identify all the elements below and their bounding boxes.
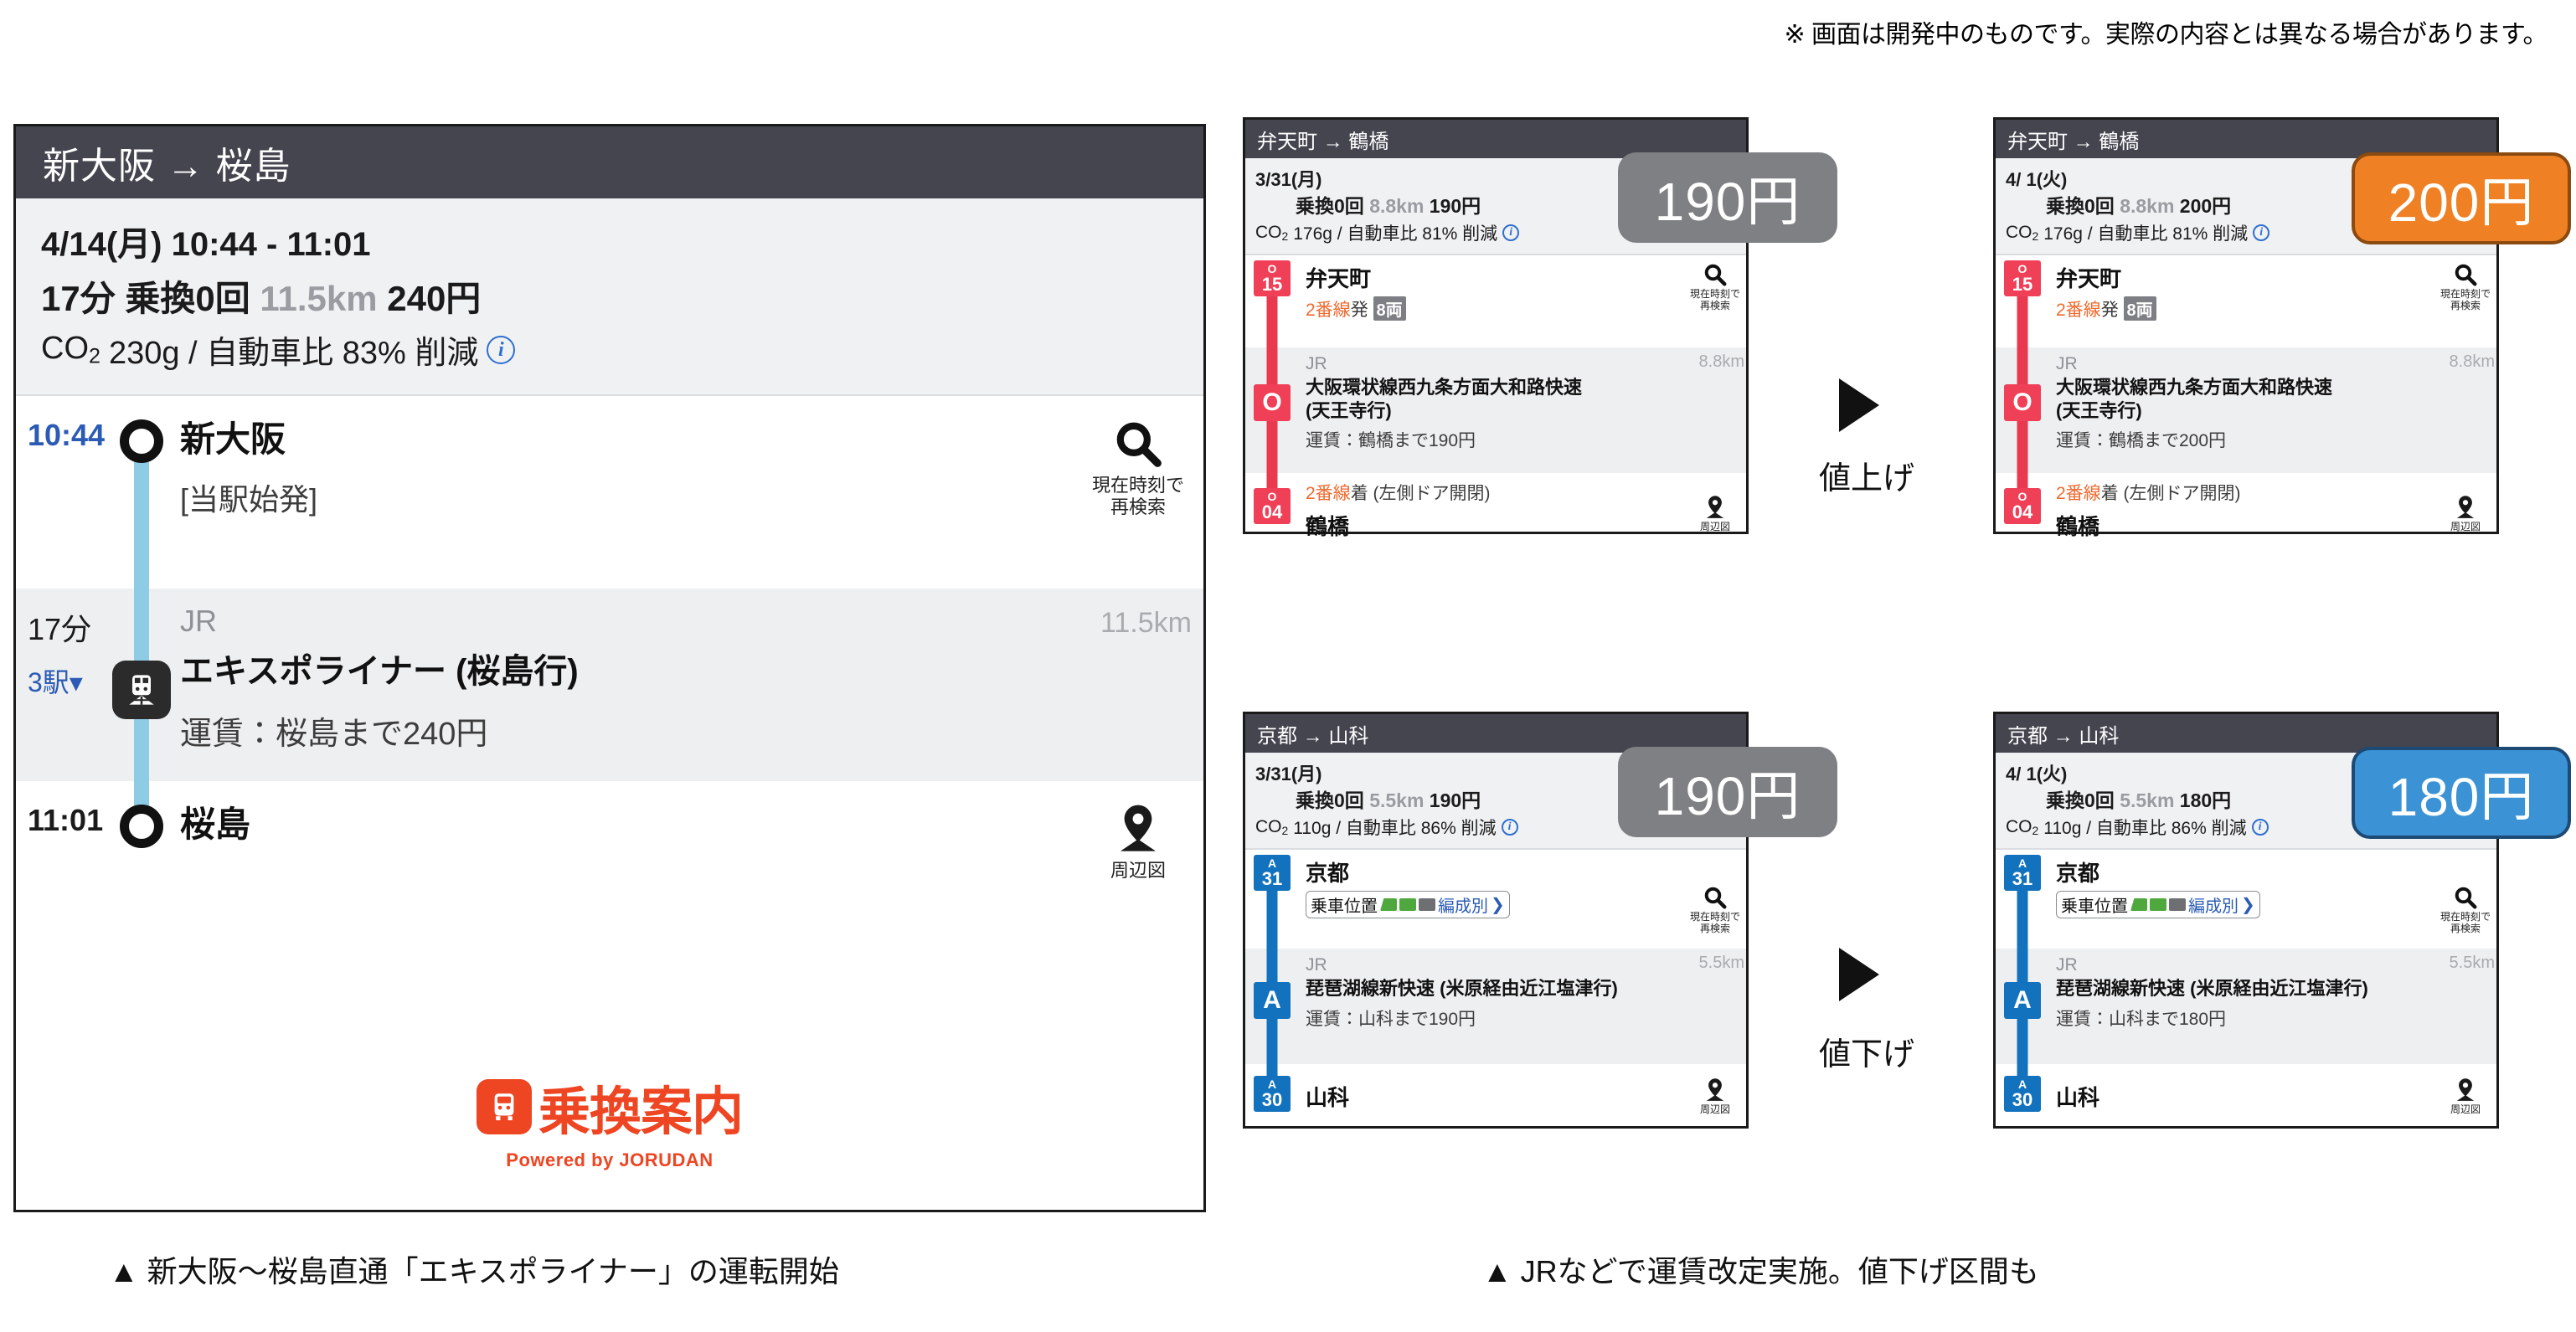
info-icon[interactable]: i xyxy=(1502,819,1518,836)
info-icon[interactable]: i xyxy=(2252,819,2269,836)
card-distance: 8.8km xyxy=(2120,195,2174,217)
price-bubble-after-2: 180円 xyxy=(2352,747,2571,839)
panel-header: 新大阪 → 桜島 xyxy=(16,126,1203,198)
summary-fare: 240円 xyxy=(387,279,481,318)
card-transfers: 乗換0回 xyxy=(2046,195,2115,217)
arrival-platform: 2番線着 (左側ドア開閉) xyxy=(2056,480,2431,505)
segment-fare: 運賃：山科まで190円 xyxy=(1306,1005,1681,1031)
car-count-chip: 8両 xyxy=(2124,296,2156,321)
segment-line-name: エキスポライナー (桜島行) xyxy=(180,644,1078,692)
summary-distance: 11.5km xyxy=(260,279,377,318)
route-axis xyxy=(108,396,175,589)
station-node-icon xyxy=(120,805,163,848)
segment-operator: JR xyxy=(180,604,1078,639)
segment-fare: 運賃：山科まで180円 xyxy=(2056,1005,2431,1031)
departure-station: 新大阪 xyxy=(180,411,1078,462)
search-icon xyxy=(2453,885,2478,910)
segment-line-name: 大阪環状線西九条方面大和路快速 (天王寺行) xyxy=(2056,376,2431,422)
train-car-icon-front xyxy=(2130,898,2147,911)
tool-caption-line1: 現在時刻で xyxy=(1092,475,1184,496)
segment-line-name: 琵琶湖線新快速 (米原経由近江塩津行) xyxy=(1306,977,1681,1000)
card-transfers: 乗換0回 xyxy=(1296,195,1364,217)
line-symbol-departure-icon: O 15 xyxy=(1254,260,1291,296)
card-row-departure: A 31 京都 乗車位置 編成別 ❯ xyxy=(1996,850,2496,949)
departure-note: [当駅始発] xyxy=(180,476,1078,519)
platform-number: 2番線 xyxy=(1306,484,1351,503)
tool-caption-line2: 再検索 xyxy=(1110,496,1166,517)
map-pin-icon xyxy=(1704,1077,1726,1103)
segment-distance: 5.5km xyxy=(2434,949,2496,1064)
co2-label: CO xyxy=(41,331,89,366)
card-distance: 5.5km xyxy=(1369,789,1424,811)
platform-number: 2番線 xyxy=(2056,484,2101,503)
card-row-departure: O 15 弁天町 2番線発 8両 現在時刻で 再検索 xyxy=(1245,255,1746,347)
co2-subscript: 2 xyxy=(1282,824,1289,837)
area-map-button[interactable]: 周辺図 xyxy=(2434,473,2496,565)
map-pin-icon xyxy=(1704,495,1726,520)
card-fare: 190円 xyxy=(1430,195,1481,217)
chevron-right-icon: ❯ xyxy=(1491,894,1505,915)
arrival-station: 鶴橋 xyxy=(1306,510,1681,541)
segment-duration: 17分 xyxy=(28,612,91,646)
tool-caption-line1: 周辺図 xyxy=(1110,860,1166,882)
area-map-button[interactable]: 周辺図 xyxy=(1684,1064,1746,1156)
co2-label: CO xyxy=(1255,223,1282,242)
car-count-chip: 8両 xyxy=(1373,296,1406,321)
formation-link: 編成別 xyxy=(1438,892,1488,917)
platform-number: 2番線 xyxy=(1306,301,1351,320)
card-row-segment: A JR 琵琶湖線新快速 (米原経由近江塩津行) 運賃：山科まで190円 5.5… xyxy=(1245,949,1746,1064)
segment-operator: JR xyxy=(2056,955,2431,975)
boarding-position-label: 乗車位置 xyxy=(1311,892,1378,917)
price-bubble-before-2: 190円 xyxy=(1618,747,1837,837)
line-symbol-segment-icon: A xyxy=(2004,982,2041,1019)
segment-operator: JR xyxy=(1306,354,1681,374)
segment-line-name: 大阪環状線西九条方面大和路快速 (天王寺行) xyxy=(1306,376,1681,422)
departure-station: 弁天町 xyxy=(1306,262,1681,293)
card-row-arrival: A 30 山科 周辺図 xyxy=(1996,1064,2496,1156)
segment-distance: 11.5km xyxy=(1100,607,1192,640)
map-pin-icon xyxy=(2455,1077,2476,1103)
card-title: 弁天町 → 鶴橋 xyxy=(2007,125,2139,154)
card-row-arrival: O 04 2番線着 (左側ドア開閉) 鶴橋 周辺図 xyxy=(1996,473,2496,565)
card-fare: 190円 xyxy=(1430,789,1481,811)
segment-operator: JR xyxy=(2056,354,2431,374)
info-icon[interactable]: i xyxy=(1502,224,1519,241)
research-now-button[interactable]: 現在時刻で 再検索 xyxy=(1684,255,1746,347)
arrival-station: 山科 xyxy=(1306,1081,1681,1112)
search-icon xyxy=(1703,262,1728,287)
arrival-station: 桜島 xyxy=(180,796,1078,847)
card-title: 京都 → 山科 xyxy=(1257,719,1368,748)
segment-distance: 8.8km xyxy=(2434,347,2496,473)
area-map-button[interactable]: 周辺図 xyxy=(2434,1064,2496,1156)
boarding-position-button[interactable]: 乗車位置 編成別 ❯ xyxy=(2056,891,2260,918)
card-row-departure: O 15 弁天町 2番線発 8両 現在時刻で 再検索 xyxy=(1996,255,2496,347)
departure-station: 京都 xyxy=(2056,856,2431,887)
card-row-arrival: A 30 山科 周辺図 xyxy=(1245,1064,1746,1156)
segment-operator: JR xyxy=(1306,955,1681,975)
arrival-station: 鶴橋 xyxy=(2056,510,2431,541)
triangle-right-icon xyxy=(1839,378,1879,432)
line-symbol-segment-icon: A xyxy=(1254,982,1291,1019)
train-car-icon-mid xyxy=(1399,898,1416,911)
card-row-departure: A 31 京都 乗車位置 編成別 ❯ xyxy=(1245,850,1746,949)
arrival-time: 11:01 xyxy=(16,781,108,949)
line-symbol-arrival-icon: O 04 xyxy=(1254,488,1291,524)
segment-line-name: 琵琶湖線新快速 (米原経由近江塩津行) xyxy=(2056,977,2431,1000)
arrow-label-decrease: 値下げ xyxy=(1819,1028,1914,1074)
price-bubble-before-1: 190円 xyxy=(1618,152,1837,243)
segment-distance: 8.8km xyxy=(1684,347,1746,473)
co2-subscript: 2 xyxy=(2032,824,2039,837)
summary-transfers: 乗換0回 xyxy=(125,279,250,318)
chevron-right-icon: ❯ xyxy=(2241,894,2255,915)
summary-co2: CO2 230g / 自動車比 83% 削減 i xyxy=(41,327,1178,373)
card-fare: 180円 xyxy=(2180,789,2231,811)
card-fare: 200円 xyxy=(2180,195,2231,217)
route-row-arrival: 11:01 桜島 周辺図 xyxy=(16,781,1203,949)
card-row-segment: A JR 琵琶湖線新快速 (米原経由近江塩津行) 運賃：山科まで180円 5.5… xyxy=(1996,949,2496,1064)
panel-title: 新大阪 → 桜島 xyxy=(43,136,291,189)
segment-distance: 5.5km xyxy=(1684,949,1746,1064)
departure-station: 弁天町 xyxy=(2056,262,2431,293)
line-symbol-arrival-icon: A 30 xyxy=(2004,1076,2041,1112)
line-symbol-arrival-icon: A 30 xyxy=(1254,1076,1291,1112)
boarding-position-button[interactable]: 乗車位置 編成別 ❯ xyxy=(1306,891,1510,918)
co2-subscript: 2 xyxy=(2032,229,2039,243)
card-row-segment: O JR 大阪環状線西九条方面大和路快速 (天王寺行) 運賃：鶴橋まで200円 … xyxy=(1996,347,2496,473)
co2-subscript: 2 xyxy=(1282,229,1289,243)
co2-subscript: 2 xyxy=(89,344,100,368)
disclaimer-text: ※ 画面は開発中のものです。実際の内容とは異なる場合があります。 xyxy=(1785,13,2548,50)
price-bubble-after-1: 200円 xyxy=(2352,152,2571,244)
boarding-position-label: 乗車位置 xyxy=(2061,892,2128,917)
summary-metrics: 17分 乗換0回 11.5km 240円 xyxy=(41,270,1178,321)
segment-fare: 運賃：桜島まで240円 xyxy=(180,707,1078,753)
segment-fare: 運賃：鶴橋まで200円 xyxy=(2056,427,2431,452)
station-node-icon xyxy=(120,419,163,463)
route-axis xyxy=(108,781,175,949)
platform-number: 2番線 xyxy=(2056,301,2101,320)
train-car-icon-rear xyxy=(2169,898,2186,911)
search-icon xyxy=(1112,418,1164,470)
departure-time: 10:44 xyxy=(16,396,108,589)
arrival-station: 山科 xyxy=(2056,1081,2431,1112)
arrow-label-increase: 値上げ xyxy=(1819,452,1914,498)
card-transfers: 乗換0回 xyxy=(1296,789,1364,811)
jorudan-logo: 乗換案内 Powered by JORUDAN xyxy=(16,1069,1203,1171)
line-symbol-departure-icon: A 31 xyxy=(1254,855,1291,891)
info-icon[interactable]: i xyxy=(487,336,515,364)
segment-fare: 運賃：鶴橋まで190円 xyxy=(1306,427,1681,452)
co2-value: 176g / 自動車比 81% 削減 xyxy=(1293,220,1497,245)
co2-label: CO xyxy=(1255,817,1282,836)
research-now-button[interactable]: 現在時刻で 再検索 xyxy=(2434,255,2496,347)
line-symbol-segment-icon: O xyxy=(2004,384,2041,421)
train-car-icon-rear xyxy=(1419,898,1435,911)
card-distance: 5.5km xyxy=(2120,789,2174,811)
route-row-segment: 17分 3駅▾ xyxy=(16,589,1203,781)
departure-platform: 2番線発 8両 xyxy=(1306,296,1681,321)
card-row-segment: O JR 大阪環状線西九条方面大和路快速 (天王寺行) 運賃：鶴橋まで190円 … xyxy=(1245,347,1746,473)
area-map-button[interactable]: 周辺図 xyxy=(1684,473,1746,565)
map-pin-icon xyxy=(2455,495,2476,520)
card-title: 弁天町 → 鶴橋 xyxy=(1257,125,1388,154)
route-axis xyxy=(108,589,175,781)
jorudan-train-badge-icon xyxy=(477,1079,532,1134)
formation-link: 編成別 xyxy=(2188,892,2239,917)
summary-datetime: 4/14(月) 10:44 - 11:01 xyxy=(41,217,1178,265)
research-now-button[interactable]: 現在時刻で 再検索 xyxy=(1088,418,1188,519)
arrival-platform: 2番線着 (左側ドア開閉) xyxy=(1306,480,1681,505)
card-title: 京都 → 山科 xyxy=(2007,719,2119,748)
route-row-departure: 10:44 新大阪 [当駅始発] 現在時刻で 再検索 xyxy=(16,396,1203,589)
stations-toggle-link[interactable]: 3駅▾ xyxy=(28,662,108,702)
train-glyph-icon xyxy=(123,671,160,708)
research-now-button[interactable]: 現在時刻で 再検索 xyxy=(1684,850,1746,949)
search-icon xyxy=(1703,885,1728,910)
jorudan-powered-by: Powered by JORUDAN xyxy=(506,1149,713,1171)
route-summary: 4/14(月) 10:44 - 11:01 17分 乗換0回 11.5km 24… xyxy=(16,198,1203,396)
co2-value: 230g / 自動車比 83% 削減 xyxy=(109,327,478,373)
train-badge-glyph-icon xyxy=(487,1089,522,1124)
slide-canvas: ※ 画面は開発中のものです。実際の内容とは異なる場合があります。 新大阪 → 桜… xyxy=(0,0,2576,1332)
departure-station: 京都 xyxy=(1306,856,1681,887)
co2-value: 110g / 自動車比 86% 削減 xyxy=(1293,815,1496,840)
jorudan-wordmark: 乗換案内 xyxy=(538,1069,743,1144)
caption-right: ▲ JRなどで運賃改定実施。値下げ区間も xyxy=(1482,1247,2039,1291)
search-icon xyxy=(2453,262,2478,287)
co2-value: 110g / 自動車比 86% 削減 xyxy=(2043,815,2246,840)
summary-duration: 17分 xyxy=(41,279,116,318)
co2-label: CO xyxy=(2006,223,2032,242)
card-row-arrival: O 04 2番線着 (左側ドア開閉) 鶴橋 周辺図 xyxy=(1245,473,1746,565)
co2-value: 176g / 自動車比 81% 削減 xyxy=(2043,220,2248,245)
train-car-icon-mid xyxy=(2150,898,2166,911)
area-map-button[interactable]: 周辺図 xyxy=(1088,803,1188,882)
info-icon[interactable]: i xyxy=(2253,224,2269,241)
card-transfers: 乗換0回 xyxy=(2046,789,2115,811)
card-distance: 8.8km xyxy=(1369,195,1424,217)
route-detail-panel: 新大阪 → 桜島 4/14(月) 10:44 - 11:01 17分 乗換0回 … xyxy=(13,124,1206,1212)
caption-left: ▲ 新大阪～桜島直通「エキスポライナー」の運転開始 xyxy=(109,1247,839,1291)
line-symbol-segment-icon: O xyxy=(1254,384,1291,421)
train-car-icon-front xyxy=(1380,898,1397,911)
map-pin-icon xyxy=(1115,803,1161,855)
co2-label: CO xyxy=(2006,817,2032,836)
departure-platform: 2番線発 8両 xyxy=(2056,296,2431,321)
research-now-button[interactable]: 現在時刻で 再検索 xyxy=(2434,850,2496,949)
line-symbol-departure-icon: O 15 xyxy=(2004,260,2041,296)
line-symbol-departure-icon: A 31 xyxy=(2004,855,2041,891)
line-symbol-arrival-icon: O 04 xyxy=(2004,488,2041,524)
triangle-right-icon xyxy=(1839,948,1879,1001)
train-icon xyxy=(112,661,171,719)
